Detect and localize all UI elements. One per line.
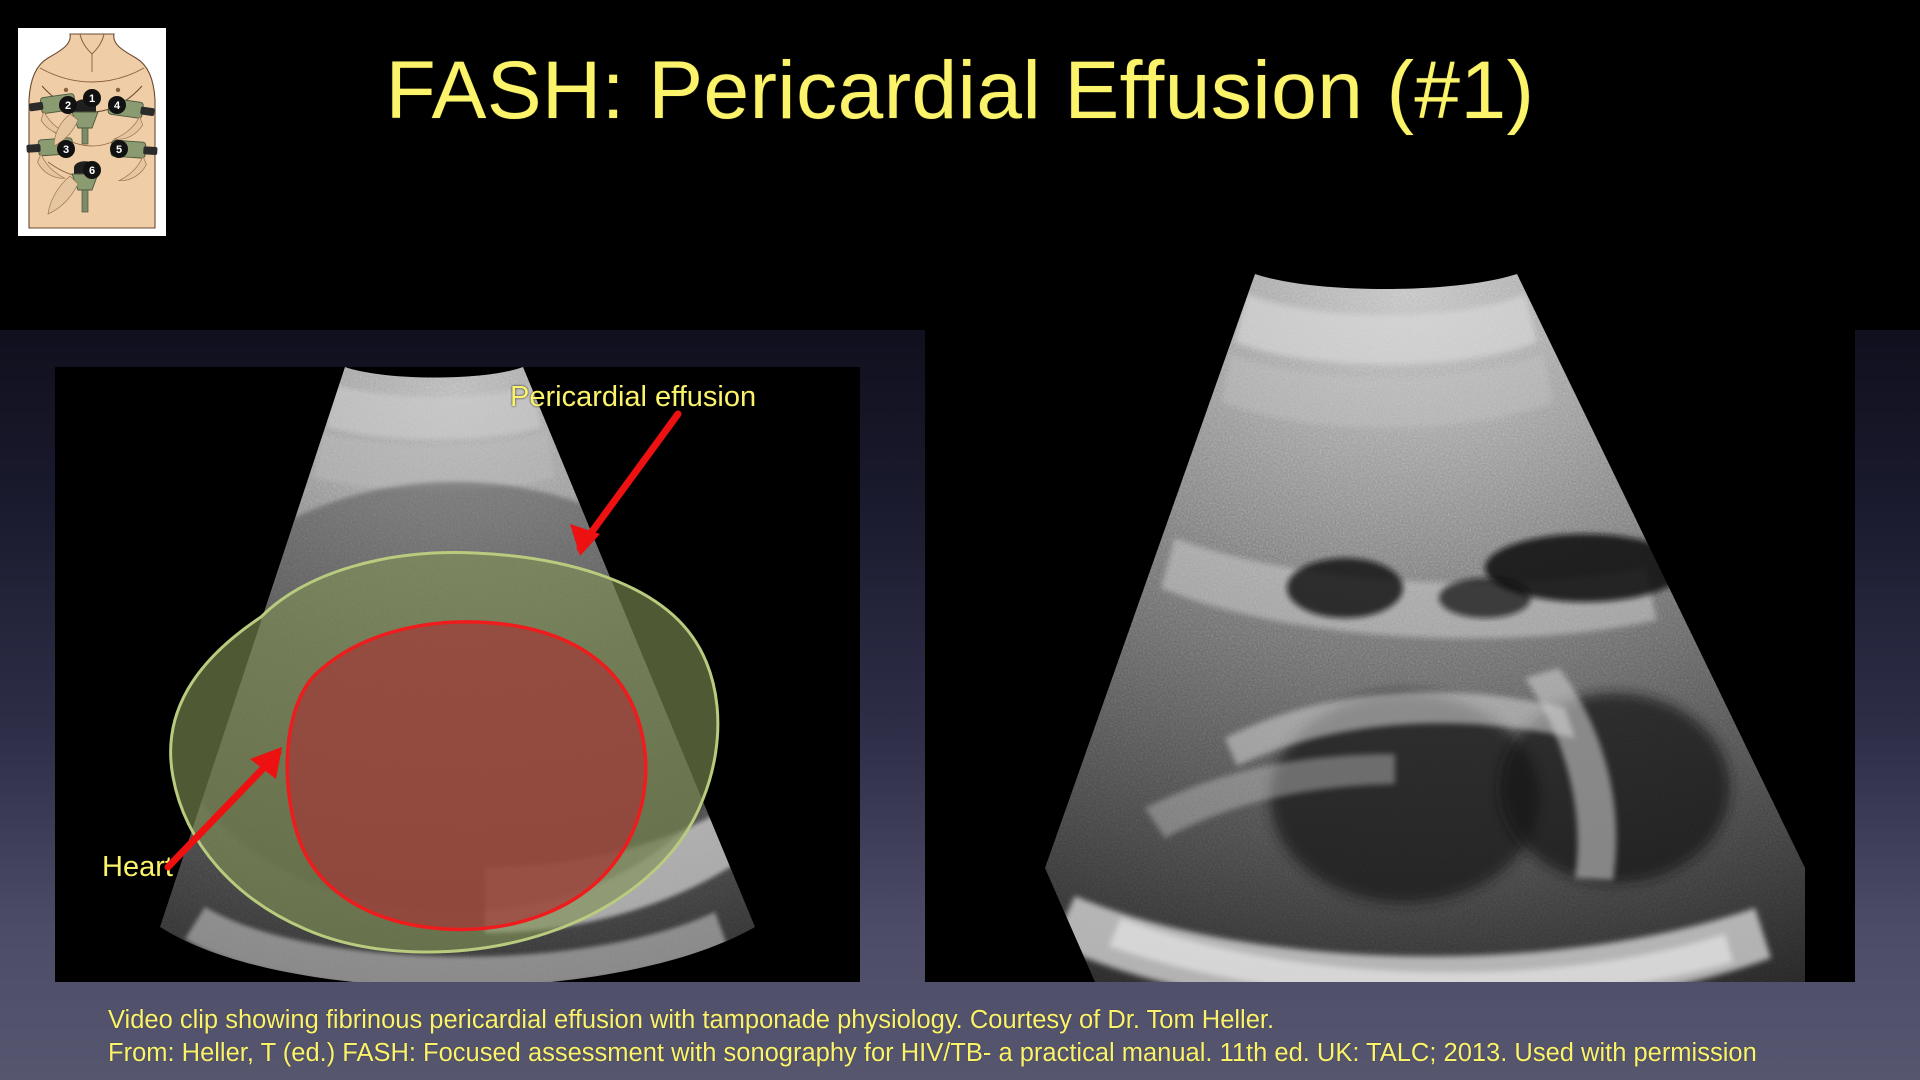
slide-title: FASH: Pericardial Effusion (#1) (0, 48, 1920, 134)
unannotated-ultrasound-panel (925, 268, 1855, 982)
svg-text:3: 3 (63, 144, 69, 156)
ultrasound-image-right (925, 268, 1855, 982)
caption-line-1: Video clip showing fibrinous pericardial… (108, 1004, 1898, 1037)
slide-caption: Video clip showing fibrinous pericardial… (108, 1004, 1898, 1070)
annotated-ultrasound-panel (55, 367, 860, 982)
caption-line-2: From: Heller, T (ed.) FASH: Focused asse… (108, 1037, 1898, 1070)
probe-position-3: 3 (57, 140, 75, 158)
svg-text:5: 5 (116, 144, 122, 156)
probe-position-5: 5 (110, 140, 128, 158)
ultrasound-image-left (55, 367, 860, 982)
annotation-label-heart: Heart (102, 853, 173, 882)
overlay-heart (287, 622, 645, 930)
svg-text:6: 6 (89, 165, 95, 177)
annotation-label-pericardial-effusion: Pericardial effusion (510, 383, 756, 412)
presentation-slide: 1 2 3 4 5 6 FASH: Pericardial Effusion (… (0, 0, 1920, 1080)
probe-position-6: 6 (83, 161, 101, 179)
